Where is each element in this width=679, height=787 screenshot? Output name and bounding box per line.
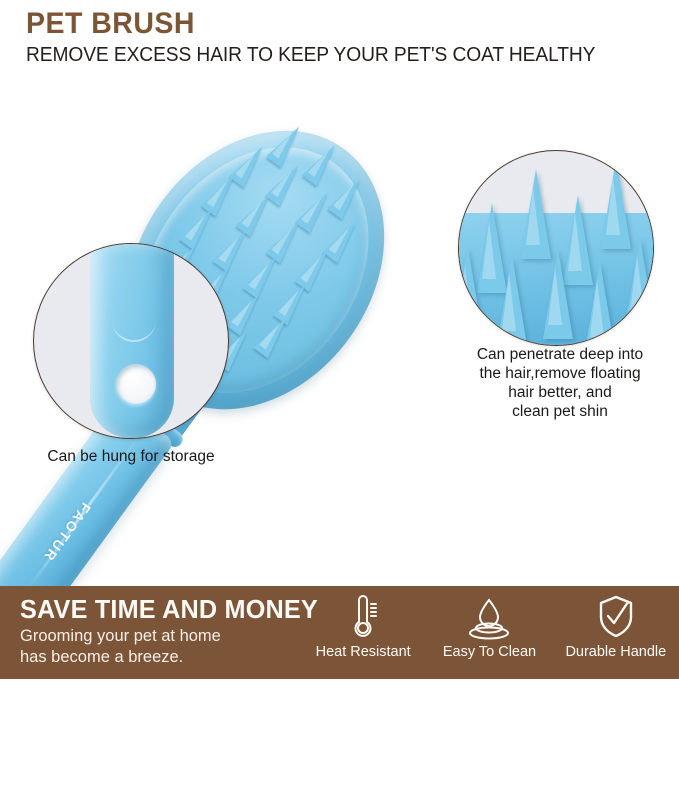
- thermometer-icon: [343, 592, 383, 642]
- page-subtitle: REMOVE EXCESS HAIR TO KEEP YOUR PET'S CO…: [26, 43, 640, 67]
- bristle-macro-spike: [497, 255, 527, 345]
- feature-list: Heat Resistant Easy To Clean: [300, 592, 679, 679]
- shield-check-icon: [594, 592, 638, 642]
- banner-subtext: Grooming your pet at home has become a b…: [20, 626, 330, 668]
- feature-easy-to-clean: Easy To Clean: [426, 592, 552, 679]
- callout-circle-hang-hole: [33, 243, 229, 439]
- feature-label: Durable Handle: [565, 644, 666, 660]
- feature-label: Easy To Clean: [443, 644, 536, 660]
- header-block: PET BRUSH REMOVE EXCESS HAIR TO KEEP YOU…: [26, 8, 666, 67]
- feature-durable-handle: Durable Handle: [553, 592, 679, 679]
- bottom-banner: SAVE TIME AND MONEY Grooming your pet at…: [0, 586, 679, 679]
- banner-headline: SAVE TIME AND MONEY: [20, 596, 321, 623]
- bristle-macro-spike: [601, 159, 631, 249]
- handle-edge-highlight: [112, 243, 156, 342]
- callout-caption-bristle-macro: Can penetrate deep into the hair,remove …: [448, 346, 672, 422]
- bristle-macro-spike: [585, 261, 615, 346]
- feature-label: Heat Resistant: [316, 644, 411, 660]
- hang-hole: [116, 364, 156, 404]
- bristle-macro-spike: [521, 169, 551, 259]
- bristle-macro-spike: [458, 247, 483, 337]
- bristle-macro-spike: [543, 249, 573, 339]
- handle-end-detail: [90, 243, 174, 438]
- bristle-macro-spike: [625, 237, 654, 327]
- banner-text-block: SAVE TIME AND MONEY Grooming your pet at…: [20, 596, 330, 669]
- water-drop-icon: [466, 592, 512, 642]
- feature-heat-resistant: Heat Resistant: [300, 592, 426, 679]
- page-title: PET BRUSH: [26, 8, 634, 40]
- callout-circle-bristle-macro: [458, 150, 654, 346]
- callout-caption-hang-hole: Can be hung for storage: [10, 448, 252, 467]
- infographic-canvas: PET BRUSH REMOVE EXCESS HAIR TO KEEP YOU…: [0, 0, 679, 679]
- handle-brand-text: FAOTUR: [51, 500, 95, 551]
